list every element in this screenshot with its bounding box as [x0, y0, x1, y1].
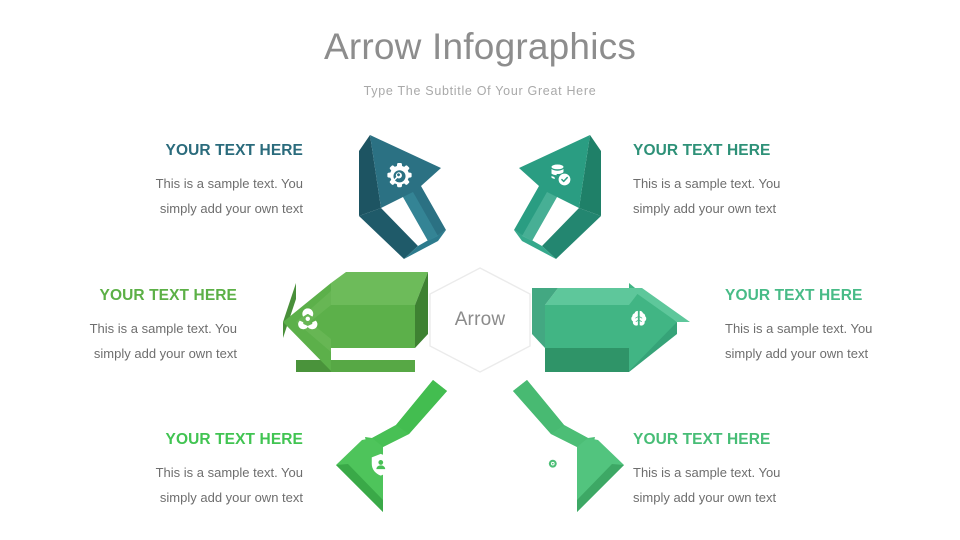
arrow-top-right[interactable] [514, 135, 601, 259]
arrow-bottom-left-shaft [396, 380, 447, 434]
body-line-1: This is a sample text. You [633, 460, 883, 485]
body-line-2: simply add your own text [53, 196, 303, 221]
arrow-middle-right-shade [545, 348, 629, 372]
text-block-bottom-left: YOUR TEXT HERE This is a sample text. Yo… [53, 431, 303, 511]
award-badge-icon [546, 454, 561, 476]
text-block-middle-right: YOUR TEXT HERE This is a sample text. Yo… [725, 287, 960, 367]
body-line-2: simply add your own text [0, 341, 237, 366]
arrow-top-right-shade [542, 208, 601, 259]
arrow-top-left-shade [359, 208, 418, 259]
text-block-top-right: YOUR TEXT HERE This is a sample text. Yo… [633, 142, 883, 222]
radiation-icon [297, 308, 319, 330]
body-bottom-right: This is a sample text. You simply add yo… [633, 460, 883, 511]
body-line-2: simply add your own text [633, 485, 883, 510]
text-block-top-left: YOUR TEXT HERE This is a sample text. Yo… [53, 142, 303, 222]
heading-bottom-right: YOUR TEXT HERE [633, 431, 883, 448]
body-line-2: simply add your own text [725, 341, 960, 366]
arrow-bottom-right[interactable] [513, 380, 624, 512]
body-line-1: This is a sample text. You [0, 316, 237, 341]
body-top-left: This is a sample text. You simply add yo… [53, 171, 303, 222]
body-line-1: This is a sample text. You [633, 171, 883, 196]
arrow-top-left[interactable] [359, 135, 446, 259]
arrow-bottom-left[interactable] [336, 380, 447, 512]
body-line-2: simply add your own text [53, 485, 303, 510]
body-middle-left: This is a sample text. You simply add yo… [0, 316, 237, 367]
arrow-middle-left-top [331, 272, 428, 305]
arrow-middle-right-top [545, 288, 642, 305]
body-line-1: This is a sample text. You [53, 460, 303, 485]
body-line-1: This is a sample text. You [53, 171, 303, 196]
center-hexagon-wrap: Arrow [422, 268, 538, 372]
heading-top-right: YOUR TEXT HERE [633, 142, 883, 159]
body-line-2: simply add your own text [633, 196, 883, 221]
arrow-bottom-right-shaft [513, 380, 564, 434]
center-hexagon-label: Arrow [422, 268, 538, 372]
heading-middle-right: YOUR TEXT HERE [725, 287, 960, 304]
slide-canvas: Arrow Infographics Type The Subtitle Of … [0, 0, 960, 540]
body-bottom-left: This is a sample text. You simply add yo… [53, 460, 303, 511]
body-line-1: This is a sample text. You [725, 316, 960, 341]
heading-middle-left: YOUR TEXT HERE [0, 287, 237, 304]
body-middle-right: This is a sample text. You simply add yo… [725, 316, 960, 367]
text-block-middle-left: YOUR TEXT HERE This is a sample text. Yo… [0, 287, 237, 367]
body-top-right: This is a sample text. You simply add yo… [633, 171, 883, 222]
text-block-bottom-right: YOUR TEXT HERE This is a sample text. Yo… [633, 431, 883, 511]
heading-bottom-left: YOUR TEXT HERE [53, 431, 303, 448]
arrow-middle-left-underside [331, 360, 415, 372]
arrow-middle-right[interactable] [532, 283, 690, 372]
arrow-middle-left[interactable] [283, 272, 428, 372]
heading-top-left: YOUR TEXT HERE [53, 142, 303, 159]
